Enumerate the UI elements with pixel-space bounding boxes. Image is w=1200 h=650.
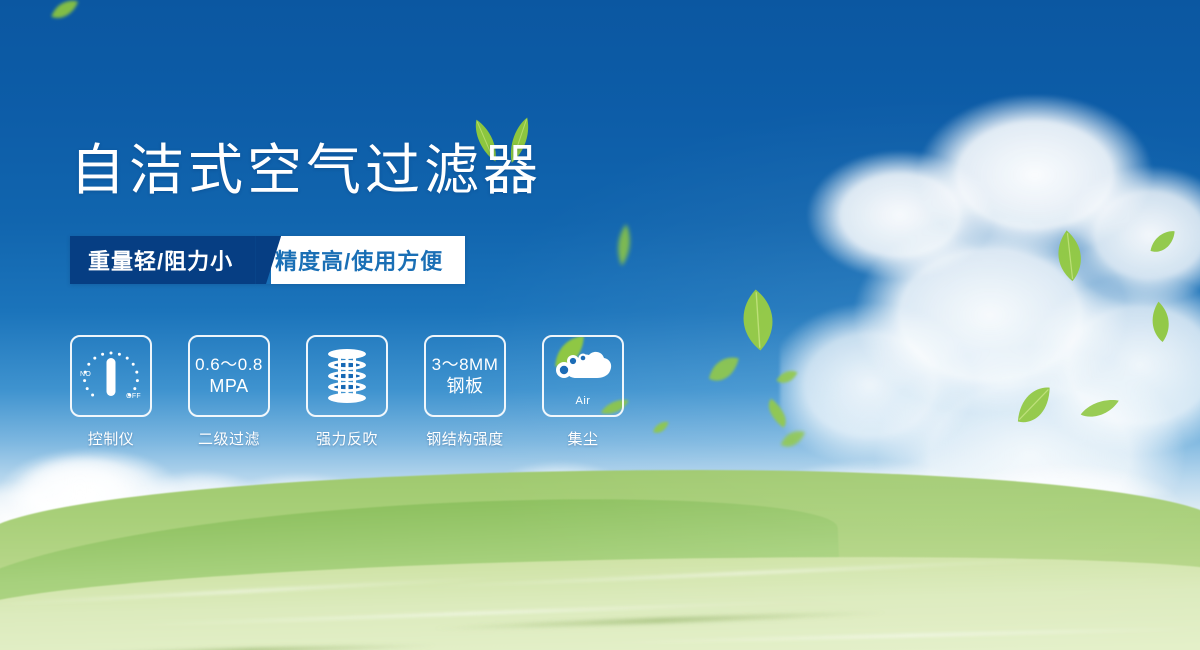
leaf-floating <box>1079 397 1122 422</box>
meter-dot-arc <box>80 347 142 405</box>
steel-material: 钢板 <box>432 375 499 398</box>
leaf-floating <box>760 396 797 430</box>
feature-label: 钢结构强度 <box>426 428 504 449</box>
leaf-floating <box>651 419 672 435</box>
feature-icon-box: 0.6～0.8 MPA <box>188 335 270 417</box>
cloud-right <box>780 95 1200 495</box>
feature-icon-box: 3～8MM 钢板 <box>424 335 506 417</box>
control-meter-icon: NO OFF <box>80 347 142 405</box>
feature-item-blowback[interactable]: 强力反吹 <box>306 335 388 449</box>
air-cloud-icon <box>552 346 614 398</box>
steel-thickness: 3～8MM <box>432 354 499 375</box>
feature-label: 强力反吹 <box>316 428 378 449</box>
feature-item-pressure[interactable]: 0.6～0.8 MPA 二级过滤 <box>188 335 270 449</box>
pressure-range: 0.6～0.8 <box>195 354 263 375</box>
pressure-text-icon: 0.6～0.8 MPA <box>195 354 263 398</box>
feature-icon-box <box>306 335 388 417</box>
feature-label: 控制仪 <box>88 428 135 449</box>
leaf-floating <box>704 352 744 386</box>
leaf-floating <box>778 427 807 450</box>
leaf-floating <box>775 369 799 386</box>
feature-icon-box: NO OFF <box>70 335 152 417</box>
leaf-floating <box>1043 226 1097 285</box>
leaf-floating <box>1007 380 1062 431</box>
leaf-floating <box>1145 227 1181 257</box>
leaf-floating <box>613 223 635 267</box>
feature-item-steel[interactable]: 3～8MM 钢板 钢结构强度 <box>424 335 506 449</box>
feature-label: 集尘 <box>567 428 598 449</box>
feature-list: NO OFF <box>70 335 624 449</box>
feature-item-control-meter[interactable]: NO OFF <box>70 335 152 449</box>
leaf-floating <box>723 284 792 356</box>
leaf-floating <box>1141 299 1180 346</box>
steel-plate-text-icon: 3～8MM 钢板 <box>432 354 499 398</box>
page-title: 自洁式空气过滤器 <box>70 143 542 198</box>
leaf-floating <box>48 0 81 22</box>
coil-filter-icon <box>322 346 372 406</box>
tagline-right-text: 精度高/使用方便 <box>271 236 465 284</box>
feature-label: 二级过滤 <box>198 428 260 449</box>
tagline-badge: 重量轻/阻力小 精度高/使用方便 <box>70 236 465 284</box>
product-hero-banner: 自洁式空气过滤器 重量轻/阻力小 精度高/使用方便 NO OFF <box>0 0 1200 650</box>
tagline-left-text: 重量轻/阻力小 <box>70 236 255 284</box>
feature-icon-box: Air <box>542 335 624 417</box>
feature-item-dust-collection[interactable]: Air 集尘 <box>542 335 624 449</box>
pressure-unit: MPA <box>195 375 263 398</box>
